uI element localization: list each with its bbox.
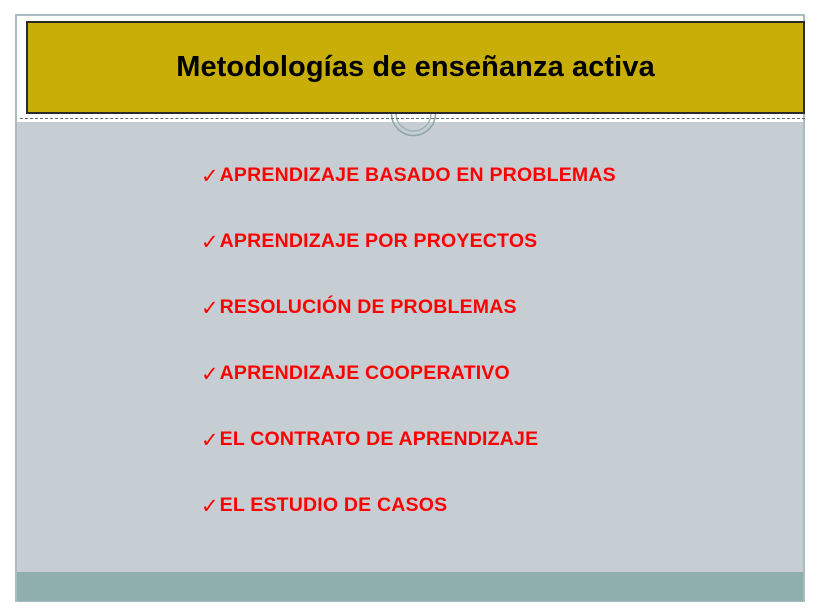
checkmark-icon: ✓ (201, 166, 219, 187)
list-item: ✓ EL CONTRATO DE APRENDIZAJE (201, 407, 781, 473)
presentation-slide: Metodologías de enseñanza activa ✓ APREN… (0, 0, 820, 615)
methodologies-bullet-list: ✓ APRENDIZAJE BASADO EN PROBLEMAS ✓ APRE… (201, 143, 781, 539)
page-title: Metodologías de enseñanza activa (176, 52, 655, 84)
list-item-label: APRENDIZAJE BASADO EN PROBLEMAS (220, 166, 616, 186)
list-item: ✓ APRENDIZAJE POR PROYECTOS (201, 209, 781, 275)
list-item-label: RESOLUCIÓN DE PROBLEMAS (220, 298, 517, 318)
slide-footer-band (17, 572, 803, 601)
checkmark-icon: ✓ (201, 364, 219, 385)
slide-title-band: Metodologías de enseñanza activa (26, 21, 805, 114)
list-item-label: EL ESTUDIO DE CASOS (220, 496, 448, 516)
checkmark-icon: ✓ (201, 430, 219, 451)
checkmark-icon: ✓ (201, 232, 219, 253)
list-item-label: APRENDIZAJE COOPERATIVO (220, 364, 510, 384)
slide-frame-top-rule (15, 14, 805, 16)
list-item: ✓ EL ESTUDIO DE CASOS (201, 473, 781, 539)
checkmark-icon: ✓ (201, 496, 219, 517)
title-underline-rule (20, 118, 805, 119)
list-item: ✓ APRENDIZAJE COOPERATIVO (201, 341, 781, 407)
checkmark-icon: ✓ (201, 298, 219, 319)
list-item-label: EL CONTRATO DE APRENDIZAJE (220, 430, 539, 450)
list-item: ✓ APRENDIZAJE BASADO EN PROBLEMAS (201, 143, 781, 209)
list-item: ✓ RESOLUCIÓN DE PROBLEMAS (201, 275, 781, 341)
list-item-label: APRENDIZAJE POR PROYECTOS (220, 232, 538, 252)
